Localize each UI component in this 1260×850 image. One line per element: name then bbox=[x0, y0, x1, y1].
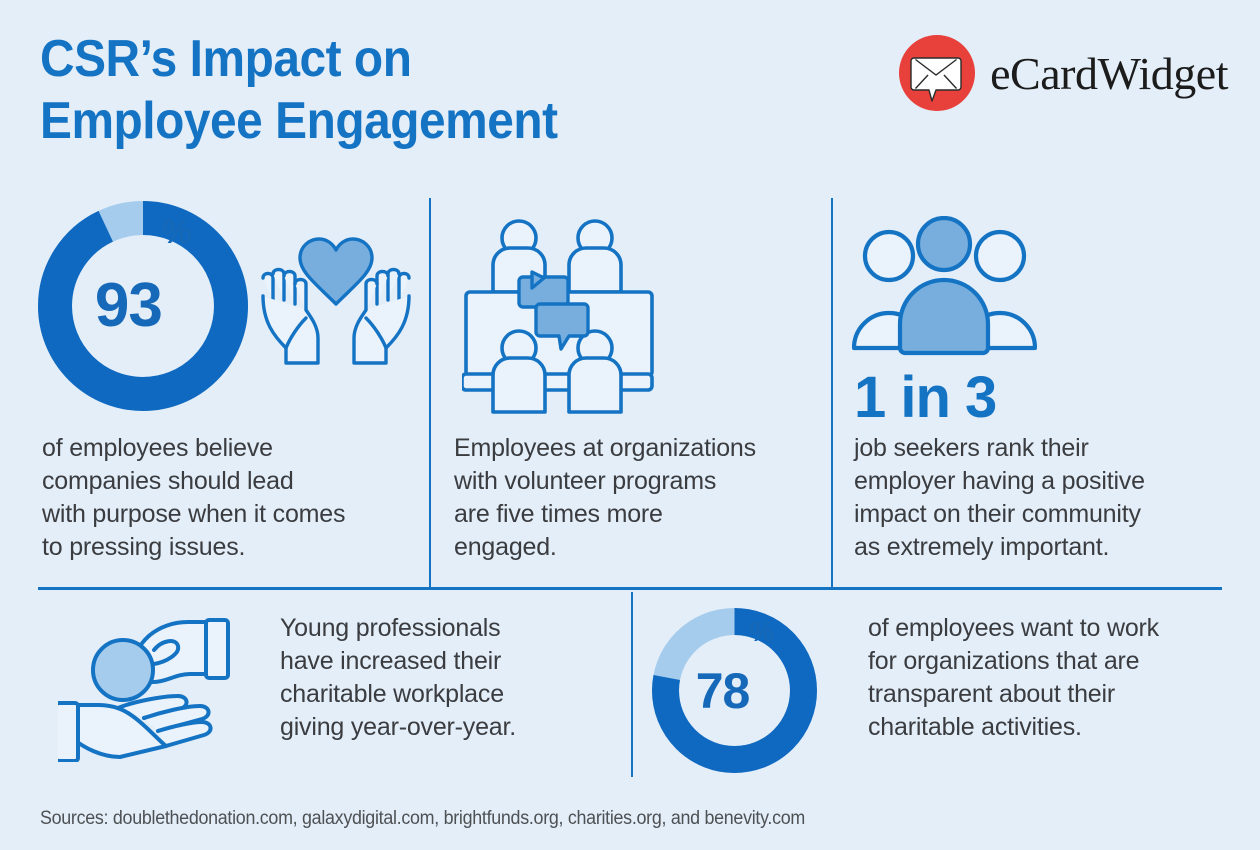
donut-93-value: 93 bbox=[95, 275, 162, 337]
stat-1-in-3-description: job seekers rank their employer having a… bbox=[854, 432, 1232, 564]
meeting-team-discussion-icon bbox=[462, 216, 662, 416]
hands-holding-heart-icon bbox=[260, 226, 412, 366]
hand-giving-coin-icon bbox=[58, 612, 258, 762]
donut-93-center-label: 93 % bbox=[38, 201, 248, 411]
donut-chart-78: 78 % bbox=[652, 608, 817, 773]
divider-horizontal bbox=[38, 587, 1222, 590]
stat-young-professionals-description: Young professionals have increased their… bbox=[280, 612, 620, 744]
stat-card-young-professionals: Young professionals have increased their… bbox=[40, 600, 620, 780]
sources-note: Sources: doublethedonation.com, galaxydi… bbox=[40, 808, 805, 830]
brand-name: eCardWidget bbox=[990, 47, 1228, 100]
group-of-people-icon bbox=[852, 216, 1037, 356]
divider-vertical-right bbox=[831, 198, 833, 588]
stat-93-description: of employees believe companies should le… bbox=[42, 432, 420, 564]
page-title: CSR’s Impact on Employee Engagement bbox=[40, 28, 558, 152]
envelope-speech-bubble-icon bbox=[898, 34, 976, 112]
stat-card-93-percent: 93 % bbox=[38, 198, 418, 578]
stat-volunteer-description: Employees at organizations with voluntee… bbox=[454, 432, 820, 564]
stat-1-in-3-headline: 1 in 3 bbox=[854, 368, 996, 428]
stat-card-78-percent: 78 % of employees want to work for organ… bbox=[652, 600, 1232, 780]
brand-logo: eCardWidget bbox=[898, 34, 1228, 112]
infographic-canvas: CSR’s Impact on Employee Engagement eCar… bbox=[0, 0, 1260, 850]
donut-78-unit: % bbox=[749, 618, 773, 646]
donut-78-center-label: 78 % bbox=[652, 608, 817, 773]
divider-vertical-left bbox=[429, 198, 431, 588]
stat-card-volunteer-programs: Employees at organizations with voluntee… bbox=[452, 198, 822, 578]
donut-78-value: 78 bbox=[696, 666, 750, 716]
donut-93-unit: % bbox=[162, 215, 191, 249]
stat-card-1-in-3: 1 in 3 job seekers rank their employer h… bbox=[852, 198, 1232, 578]
divider-vertical-bottom bbox=[631, 592, 633, 777]
donut-chart-93: 93 % bbox=[38, 201, 248, 411]
stat-78-description: of employees want to work for organizati… bbox=[868, 612, 1232, 744]
